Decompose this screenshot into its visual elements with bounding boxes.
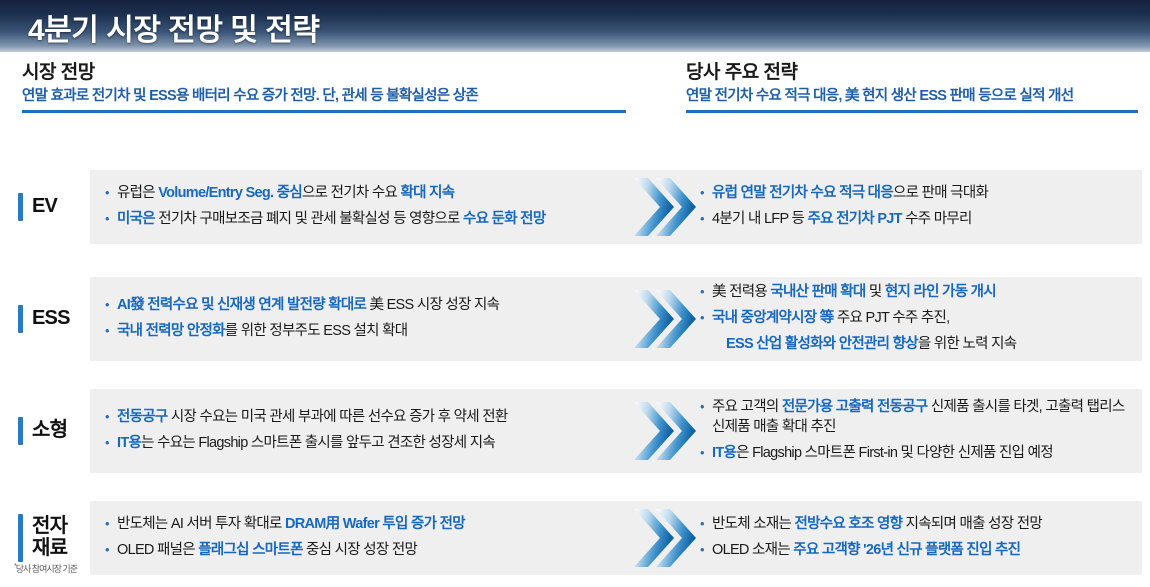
body-text: OLED 소재는: [712, 542, 793, 558]
highlighted-text: 전동공구: [117, 409, 168, 425]
strategy-bullet: ESS 산업 활성화와 안전관리 향상을 위한 노력 지속: [700, 335, 1138, 355]
double-chevron-icon: [632, 286, 698, 352]
body-text: 을 위한 노력 지속: [918, 336, 1016, 352]
body-text: 전기차 구매보조금 폐지 및 관세 불확실성 등 영향으로: [155, 211, 463, 227]
category-accent-bar: [18, 305, 23, 333]
highlighted-text: 수요 둔화 전망: [463, 211, 546, 227]
strategy-bullets: 유럽 연말 전기차 수요 적극 대응으로 판매 극대화4분기 내 LFP 등 주…: [700, 170, 1138, 244]
category-accent-bar: [18, 514, 23, 562]
highlighted-text: IT용: [712, 445, 736, 461]
market-bullet: 미국은 전기차 구매보조금 폐지 및 관세 불확실성 등 영향으로 수요 둔화 …: [105, 210, 625, 230]
market-bullet: 국내 전력망 안정화를 위한 정부주도 ESS 설치 확대: [105, 322, 625, 342]
market-bullet: 전동공구 시장 수요는 미국 관세 부과에 따른 선수요 증가 후 약세 전환: [105, 408, 625, 428]
row-category: 소형: [18, 389, 67, 473]
highlighted-text: 유럽 연말 전기차 수요 적극 대응: [712, 185, 893, 201]
body-text: 유럽은: [117, 185, 158, 201]
strategy-bullets: 주요 고객의 전문가용 고출력 전동공구 신제품 출시를 타겟, 고출력 탭리스…: [700, 389, 1138, 473]
body-text: 시장 수요는 미국 관세 부과에 따른 선수요 증가 후 약세 전환: [168, 409, 508, 425]
body-text: 美 전력용: [712, 284, 770, 300]
market-bullets: 전동공구 시장 수요는 미국 관세 부과에 따른 선수요 증가 후 약세 전환I…: [105, 389, 625, 473]
market-bullet: 반도체는 AI 서버 투자 확대로 DRAM用 Wafer 투입 증가 전망: [105, 515, 625, 535]
strategy-bullet: 반도체 소재는 전방수요 호조 영향 지속되며 매출 성장 전망: [700, 515, 1138, 535]
highlighted-text: 플래그십 스마트폰: [198, 542, 302, 558]
highlighted-text: AI發 전력수요 및 신재생 연계 발전량 확대로: [117, 297, 366, 313]
company-strategy-subtitle: 연말 전기차 수요 적극 대응, 美 현지 생산 ESS 판매 등으로 실적 개…: [686, 88, 1138, 105]
content-row: 전자 재료*당사 참여시장 기준반도체는 AI 서버 투자 확대로 DRAM用 …: [0, 501, 1150, 575]
highlighted-text: 현지 라인 가동 개시: [885, 284, 996, 300]
body-text: 은 Flagship 스마트폰 First-in 및 다양한 신제품 진입 예정: [736, 445, 1053, 461]
body-text: 4분기 내 LFP 등: [712, 211, 807, 227]
double-chevron-icon: [632, 505, 698, 571]
company-strategy-title: 당사 주요 전략: [686, 62, 1138, 84]
category-footnote: *당사 참여시장 기준: [14, 562, 77, 575]
category-accent-bar: [18, 417, 23, 445]
market-bullet: 유럽은 Volume/Entry Seg. 중심으로 전기차 수요 확대 지속: [105, 184, 625, 204]
strategy-bullet: 국내 중앙계약시장 等 주요 PJT 수주 추진,: [700, 309, 1138, 329]
market-outlook-underline: [22, 110, 626, 113]
highlighted-text: DRAM用 Wafer 투입 증가 전망: [285, 516, 465, 532]
market-bullets: 반도체는 AI 서버 투자 확대로 DRAM用 Wafer 투입 증가 전망OL…: [105, 501, 625, 575]
highlighted-text: 주요 고객향 '26년 신규 플랫폼 진입 추진: [793, 542, 1020, 558]
body-text: 주요 고객의: [712, 399, 782, 415]
body-text: 수주 마무리: [902, 211, 972, 227]
body-text: 반도체는 AI 서버 투자 확대로: [117, 516, 285, 532]
highlighted-text: 전방수요 호조 영향: [795, 516, 903, 532]
company-strategy-header: 당사 주요 전략 연말 전기차 수요 적극 대응, 美 현지 생산 ESS 판매…: [686, 62, 1138, 113]
highlighted-text: 미국은: [117, 211, 155, 227]
body-text: 중심 시장 성장 전망: [303, 542, 417, 558]
body-text: 美 ESS 시장 성장 지속: [366, 297, 499, 313]
market-bullet: AI發 전력수요 및 신재생 연계 발전량 확대로 美 ESS 시장 성장 지속: [105, 296, 625, 316]
strategy-bullet: 주요 고객의 전문가용 고출력 전동공구 신제품 출시를 타겟, 고출력 탭리스…: [700, 398, 1138, 437]
body-text: 주요 PJT 수주 추진,: [834, 310, 950, 326]
column-transition-chevron: [632, 174, 698, 240]
page-title: 4분기 시장 전망 및 전략: [28, 5, 319, 49]
double-chevron-icon: [632, 174, 698, 240]
body-text: 는 수요는 Flagship 스마트폰 출시를 앞두고 견조한 성장세 지속: [141, 435, 495, 451]
column-transition-chevron: [632, 505, 698, 571]
body-text: 지속되며 매출 성장 전망: [902, 516, 1042, 532]
row-category: EV: [18, 170, 57, 244]
market-outlook-header: 시장 전망 연말 효과로 전기차 및 ESS용 배터리 수요 증가 전망. 단,…: [22, 62, 626, 113]
body-text: 를 위한 정부주도 ESS 설치 확대: [225, 323, 408, 339]
body-text: 으로 판매 극대화: [893, 185, 988, 201]
double-chevron-icon: [632, 398, 698, 464]
content-row: EV유럽은 Volume/Entry Seg. 중심으로 전기차 수요 확대 지…: [0, 170, 1150, 244]
content-row: 소형전동공구 시장 수요는 미국 관세 부과에 따른 선수요 증가 후 약세 전…: [0, 389, 1150, 473]
category-label: 소형: [32, 420, 67, 442]
strategy-bullets: 美 전력용 국내산 판매 확대 및 현지 라인 가동 개시국내 중앙계약시장 等…: [700, 277, 1138, 361]
column-transition-chevron: [632, 286, 698, 352]
category-label: ESS: [32, 308, 70, 330]
title-banner: 4분기 시장 전망 및 전략: [0, 0, 1150, 52]
strategy-bullet: 유럽 연말 전기차 수요 적극 대응으로 판매 극대화: [700, 184, 1138, 204]
strategy-bullet: 4분기 내 LFP 등 주요 전기차 PJT 수주 마무리: [700, 210, 1138, 230]
body-text: 반도체 소재는: [712, 516, 795, 532]
market-outlook-subtitle: 연말 효과로 전기차 및 ESS용 배터리 수요 증가 전망. 단, 관세 등 …: [22, 88, 626, 105]
highlighted-text: 확대 지속: [400, 185, 454, 201]
highlighted-text: 국내 중앙계약시장 等: [712, 310, 834, 326]
strategy-bullets: 반도체 소재는 전방수요 호조 영향 지속되며 매출 성장 전망OLED 소재는…: [700, 501, 1138, 575]
company-strategy-underline: [686, 110, 1138, 113]
highlighted-text: 국내산 판매 확대: [770, 284, 865, 300]
strategy-bullet: IT용은 Flagship 스마트폰 First-in 및 다양한 신제품 진입…: [700, 444, 1138, 464]
body-text: OLED 패널은: [117, 542, 198, 558]
highlighted-text: ESS 산업 활성화와 안전관리 향상: [726, 336, 918, 352]
market-outlook-title: 시장 전망: [22, 62, 626, 84]
highlighted-text: 국내 전력망 안정화: [117, 323, 225, 339]
market-bullet: OLED 패널은 플래그십 스마트폰 중심 시장 성장 전망: [105, 541, 625, 561]
highlighted-text: Volume/Entry Seg. 중심: [158, 185, 302, 201]
category-label: 전자 재료: [32, 516, 67, 559]
highlighted-text: 주요 전기차 PJT: [807, 211, 901, 227]
market-bullets: 유럽은 Volume/Entry Seg. 중심으로 전기차 수요 확대 지속미…: [105, 170, 625, 244]
market-bullets: AI發 전력수요 및 신재생 연계 발전량 확대로 美 ESS 시장 성장 지속…: [105, 277, 625, 361]
body-text: 으로 전기차 수요: [302, 185, 400, 201]
row-category: ESS: [18, 277, 70, 361]
footnote-marker: *: [14, 563, 16, 570]
category-accent-bar: [18, 193, 23, 221]
highlighted-text: 전문가용 고출력 전동공구: [782, 399, 928, 415]
market-bullet: IT용는 수요는 Flagship 스마트폰 출시를 앞두고 견조한 성장세 지…: [105, 434, 625, 454]
category-label: EV: [32, 196, 57, 218]
strategy-bullet: 美 전력용 국내산 판매 확대 및 현지 라인 가동 개시: [700, 283, 1138, 303]
strategy-bullet: OLED 소재는 주요 고객향 '26년 신규 플랫폼 진입 추진: [700, 541, 1138, 561]
body-text: 및: [866, 284, 885, 300]
column-transition-chevron: [632, 398, 698, 464]
content-row: ESSAI發 전력수요 및 신재생 연계 발전량 확대로 美 ESS 시장 성장…: [0, 277, 1150, 361]
highlighted-text: IT용: [117, 435, 141, 451]
